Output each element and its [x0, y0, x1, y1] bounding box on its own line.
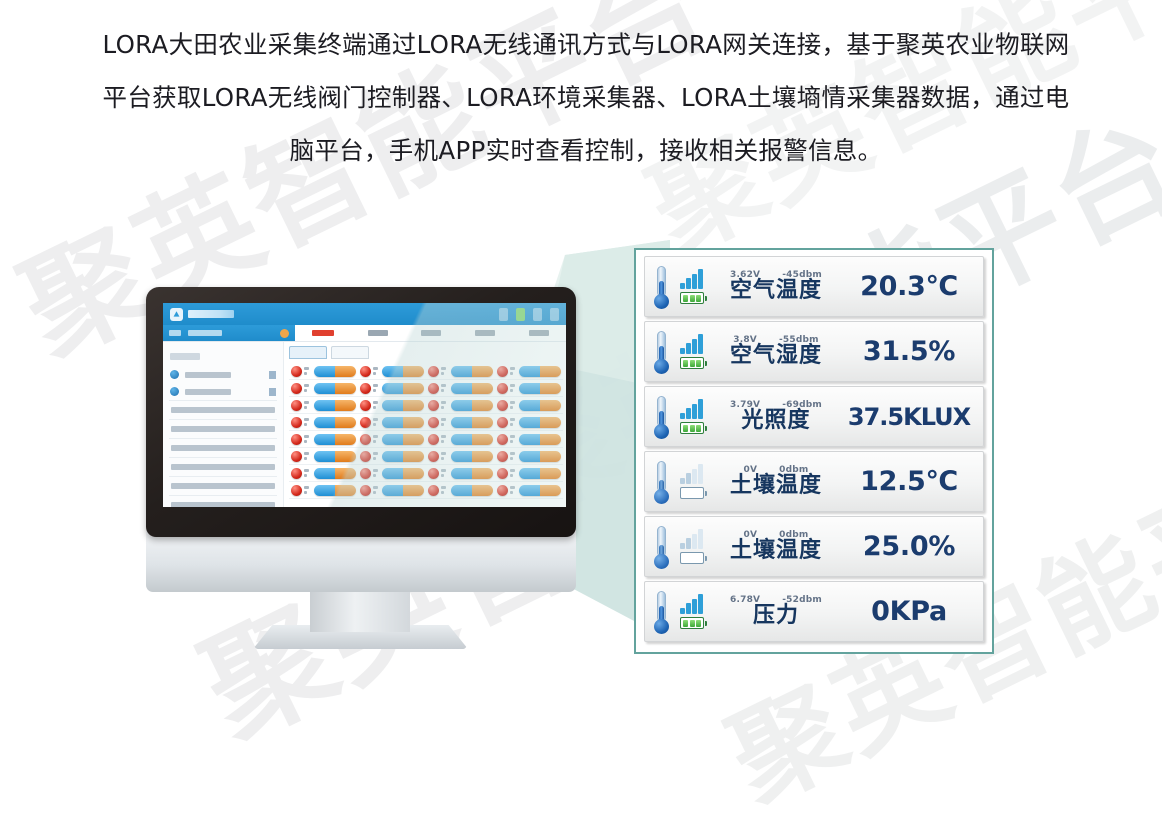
valve-toggle-button[interactable] [519, 366, 561, 377]
valve-open-half [451, 468, 472, 479]
valve-label [441, 433, 449, 445]
valve-open-half [451, 366, 472, 377]
sensor-signal-dbm: 0dbm [779, 465, 808, 475]
sensor-telemetry: 0V0dbm [744, 530, 809, 540]
battery-icon [680, 552, 704, 564]
user-avatar[interactable] [280, 329, 289, 338]
valve-close-half [403, 434, 424, 445]
thermometer-icon [653, 590, 670, 634]
valve-label [373, 382, 381, 394]
sensor-status-icons [677, 334, 707, 369]
valve-control-item[interactable] [289, 414, 358, 431]
valve-toggle-button[interactable] [314, 434, 356, 445]
header-icon-4[interactable] [550, 308, 559, 321]
valve-toggle-button[interactable] [382, 400, 424, 411]
status-indicator-icon [360, 434, 371, 445]
sensor-status-icons [677, 594, 707, 629]
valve-label [304, 399, 312, 411]
valve-control-item[interactable] [358, 431, 427, 448]
valve-open-half [314, 434, 335, 445]
valve-open-half [519, 451, 540, 462]
valve-close-half [335, 400, 356, 411]
sensor-voltage: 0V [744, 465, 758, 475]
valve-open-half [451, 400, 472, 411]
app-header [163, 303, 566, 325]
app-subnav [163, 325, 566, 342]
monitor-stand-neck [310, 587, 410, 632]
sensor-status-icons [677, 529, 707, 564]
valve-toggle-button[interactable] [519, 434, 561, 445]
valve-close-half [472, 485, 493, 496]
valve-control-item[interactable] [358, 465, 427, 482]
valve-label [510, 365, 518, 377]
valve-toggle-button[interactable] [519, 451, 561, 462]
battery-icon [680, 487, 704, 499]
status-indicator-icon [428, 451, 439, 462]
valve-toggle-button[interactable] [519, 417, 561, 428]
valve-label [373, 484, 381, 496]
valve-label [304, 484, 312, 496]
valve-label [373, 433, 381, 445]
valve-open-half [382, 383, 403, 394]
status-indicator-icon [291, 383, 302, 394]
valve-toggle-button[interactable] [314, 451, 356, 462]
valve-open-half [519, 417, 540, 428]
valve-control-item[interactable] [358, 380, 427, 397]
valve-close-half [403, 468, 424, 479]
valve-toggle-button[interactable] [519, 400, 561, 411]
valve-control-item[interactable] [426, 482, 495, 499]
sensor-voltage: 3.8V [733, 335, 757, 345]
sensor-value: 12.5℃ [845, 466, 973, 497]
sidebar-item-6[interactable] [169, 457, 277, 476]
valve-control-item[interactable] [289, 380, 358, 397]
tab-3[interactable] [421, 330, 441, 336]
valve-open-half [519, 366, 540, 377]
valve-label [304, 433, 312, 445]
valve-close-half [540, 468, 561, 479]
device-icon [170, 387, 179, 396]
signal-strength-icon [680, 399, 704, 419]
status-indicator-icon [428, 434, 439, 445]
valve-toggle-button[interactable] [382, 366, 424, 377]
valve-open-half [314, 366, 335, 377]
valve-close-half [335, 383, 356, 394]
valve-open-half [382, 366, 403, 377]
status-indicator-icon [497, 468, 508, 479]
sensor-row[interactable]: 0V0dbm土壤温度12.5℃ [644, 451, 984, 512]
valve-label [510, 382, 518, 394]
valve-toggle-button[interactable] [314, 485, 356, 496]
valve-label [304, 365, 312, 377]
valve-label [441, 365, 449, 377]
sensor-info: 3.79V-69dbm光照度 [714, 400, 838, 432]
valve-close-half [403, 366, 424, 377]
valve-close-half [540, 434, 561, 445]
valve-toggle-button[interactable] [314, 400, 356, 411]
sidebar-item-3[interactable] [169, 400, 277, 419]
sidebar-item-device-1[interactable] [163, 366, 283, 383]
sensor-name: 光照度 [741, 409, 810, 432]
valve-label [441, 484, 449, 496]
valve-close-half [403, 400, 424, 411]
valve-control-item[interactable] [289, 363, 358, 380]
valve-open-half [314, 485, 335, 496]
sidebar-item-7[interactable] [169, 476, 277, 495]
valve-control-item[interactable] [495, 397, 564, 414]
sensor-telemetry: 0V0dbm [744, 465, 809, 475]
sensor-info: 3.62V-45dbm空气温度 [714, 270, 838, 302]
valve-open-half [519, 468, 540, 479]
sensor-voltage: 3.79V [730, 400, 760, 410]
status-indicator-icon [360, 485, 371, 496]
valve-toggle-button[interactable] [314, 417, 356, 428]
signal-icon [269, 371, 276, 379]
sidebar-item-5[interactable] [169, 438, 277, 457]
valve-label [304, 416, 312, 428]
tab-2[interactable] [368, 330, 388, 336]
valve-close-half [335, 366, 356, 377]
sensor-name: 压力 [753, 604, 799, 627]
valve-close-half [540, 383, 561, 394]
valve-label [510, 484, 518, 496]
sensor-telemetry: 3.62V-45dbm [730, 270, 822, 280]
battery-icon [680, 617, 704, 629]
valve-toggle-button[interactable] [451, 366, 493, 377]
valve-label [373, 399, 381, 411]
valve-open-half [382, 417, 403, 428]
sensor-info: 0V0dbm土壤温度 [714, 465, 838, 497]
sensor-telemetry: 3.8V-55dbm [733, 335, 818, 345]
sensor-status-icons [677, 269, 707, 304]
thermometer-icon [653, 460, 670, 504]
valve-label [510, 450, 518, 462]
status-indicator-icon [360, 417, 371, 428]
valve-open-half [451, 485, 472, 496]
sensor-row[interactable]: 3.62V-45dbm空气温度20.3℃ [644, 256, 984, 317]
valve-toggle-button[interactable] [451, 468, 493, 479]
app-tabs [295, 325, 566, 341]
status-indicator-icon [291, 417, 302, 428]
sensor-signal-dbm: -52dbm [782, 595, 822, 605]
status-indicator-icon [497, 366, 508, 377]
desktop-monitor [120, 270, 600, 650]
valve-control-item[interactable] [289, 482, 358, 499]
valve-close-half [335, 468, 356, 479]
battery-icon [680, 422, 704, 434]
sensor-status-icons [677, 399, 707, 434]
valve-label [441, 382, 449, 394]
valve-open-half [451, 383, 472, 394]
sensor-name: 空气湿度 [730, 344, 822, 367]
tab-1[interactable] [312, 330, 334, 336]
sensor-row[interactable]: 3.79V-69dbm光照度37.5KLUX [644, 386, 984, 447]
valve-control-item[interactable] [358, 363, 427, 380]
content-tab-1[interactable] [289, 346, 327, 359]
valve-open-half [451, 417, 472, 428]
thermometer-icon [653, 265, 670, 309]
valve-control-item[interactable] [426, 431, 495, 448]
tab-5[interactable] [529, 330, 549, 336]
valve-toggle-button[interactable] [451, 485, 493, 496]
status-indicator-icon [291, 485, 302, 496]
valve-label [510, 399, 518, 411]
subnav-back-label[interactable] [169, 330, 181, 336]
status-indicator-icon [497, 383, 508, 394]
valve-close-half [540, 400, 561, 411]
valve-control-item[interactable] [289, 448, 358, 465]
valve-open-half [314, 417, 335, 428]
valve-control-item[interactable] [426, 414, 495, 431]
status-indicator-icon [360, 400, 371, 411]
sensor-name: 土壤温度 [730, 539, 822, 562]
valve-control-item[interactable] [289, 465, 358, 482]
valve-close-half [472, 451, 493, 462]
sensor-voltage: 0V [744, 530, 758, 540]
thermometer-icon [653, 525, 670, 569]
status-indicator-icon [291, 400, 302, 411]
status-indicator-icon [291, 451, 302, 462]
valve-toggle-button[interactable] [451, 434, 493, 445]
sensor-telemetry: 6.78V-52dbm [730, 595, 822, 605]
status-indicator-icon [360, 366, 371, 377]
valve-close-half [335, 417, 356, 428]
valve-open-half [382, 434, 403, 445]
header-icon-2[interactable] [516, 308, 525, 321]
valve-close-half [472, 434, 493, 445]
valve-control-item[interactable] [495, 380, 564, 397]
description-paragraph: LORA大田农业采集终端通过LORA无线通讯方式与LORA网关连接，基于聚英农业… [96, 18, 1076, 177]
content-tabs [289, 346, 563, 359]
sensor-signal-dbm: -45dbm [782, 270, 822, 280]
sensor-row[interactable]: 6.78V-52dbm压力0KPa [644, 581, 984, 642]
sensor-status-icons [677, 464, 707, 499]
valve-label [510, 467, 518, 479]
valve-toggle-button[interactable] [451, 400, 493, 411]
subnav-left [163, 325, 295, 341]
valve-open-half [451, 451, 472, 462]
status-indicator-icon [497, 485, 508, 496]
sidebar-item-8[interactable] [169, 495, 277, 507]
signal-strength-icon [680, 334, 704, 354]
status-indicator-icon [291, 366, 302, 377]
valve-control-item[interactable] [495, 482, 564, 499]
valve-close-half [403, 485, 424, 496]
content-tab-2[interactable] [331, 346, 369, 359]
valve-open-half [382, 485, 403, 496]
valve-close-half [472, 417, 493, 428]
valve-label [441, 467, 449, 479]
monitor-screen [163, 303, 566, 507]
thermometer-icon [653, 395, 670, 439]
valve-control-item[interactable] [358, 397, 427, 414]
signal-icon [269, 388, 276, 396]
sensor-voltage: 6.78V [730, 595, 760, 605]
app-body [163, 342, 566, 507]
valve-toggle-button[interactable] [519, 468, 561, 479]
sensor-name: 土壤温度 [730, 474, 822, 497]
valve-toggle-button[interactable] [451, 417, 493, 428]
tab-4[interactable] [475, 330, 495, 336]
valve-control-item[interactable] [289, 431, 358, 448]
valve-toggle-button[interactable] [382, 417, 424, 428]
valve-open-half [451, 434, 472, 445]
status-indicator-icon [428, 383, 439, 394]
monitor-bezel [146, 287, 576, 537]
valve-control-item[interactable] [358, 448, 427, 465]
valve-toggle-button[interactable] [451, 383, 493, 394]
valve-label [373, 365, 381, 377]
battery-icon [680, 357, 704, 369]
valve-toggle-button[interactable] [519, 383, 561, 394]
signal-strength-icon [680, 529, 704, 549]
status-indicator-icon [360, 468, 371, 479]
valve-close-half [335, 485, 356, 496]
valve-label [510, 433, 518, 445]
sidebar-item-device-2[interactable] [163, 383, 283, 400]
sidebar-group-label [170, 353, 200, 360]
valve-control-item[interactable] [495, 448, 564, 465]
status-indicator-icon [497, 451, 508, 462]
status-indicator-icon [497, 400, 508, 411]
poster-canvas: 聚英智能平台 聚英智能平台 聚英智能平台 聚英智能平台 聚英智能平台 LORA大… [0, 0, 1162, 726]
sensor-signal-dbm: -55dbm [779, 335, 819, 345]
valve-label [510, 416, 518, 428]
valve-close-half [540, 485, 561, 496]
status-indicator-icon [428, 400, 439, 411]
status-indicator-icon [360, 383, 371, 394]
valve-open-half [382, 400, 403, 411]
valve-control-item[interactable] [495, 414, 564, 431]
valve-toggle-button[interactable] [382, 434, 424, 445]
status-indicator-icon [360, 451, 371, 462]
valve-control-grid [289, 363, 563, 499]
valve-toggle-button[interactable] [382, 485, 424, 496]
header-icon-3[interactable] [533, 308, 542, 321]
valve-close-half [335, 451, 356, 462]
valve-close-half [403, 451, 424, 462]
valve-toggle-button[interactable] [314, 383, 356, 394]
valve-control-item[interactable] [358, 482, 427, 499]
status-indicator-icon [291, 434, 302, 445]
valve-close-half [335, 434, 356, 445]
app-brand-title [188, 310, 234, 318]
valve-control-item[interactable] [426, 465, 495, 482]
valve-label [441, 399, 449, 411]
sensor-value: 0KPa [845, 596, 973, 627]
sensor-info: 6.78V-52dbm压力 [714, 595, 838, 627]
sensor-info: 3.8V-55dbm空气湿度 [714, 335, 838, 367]
valve-close-half [540, 451, 561, 462]
sensor-name: 空气温度 [730, 279, 822, 302]
valve-toggle-button[interactable] [382, 468, 424, 479]
platform-app [163, 303, 566, 507]
sensor-row[interactable]: 3.8V-55dbm空气湿度31.5% [644, 321, 984, 382]
valve-label [373, 467, 381, 479]
monitor-chin [146, 530, 576, 592]
status-indicator-icon [291, 468, 302, 479]
sensor-voltage: 3.62V [730, 270, 760, 280]
valve-control-item[interactable] [426, 397, 495, 414]
valve-close-half [540, 366, 561, 377]
valve-close-half [403, 417, 424, 428]
valve-control-item[interactable] [358, 414, 427, 431]
valve-open-half [314, 400, 335, 411]
valve-label [304, 450, 312, 462]
valve-control-item[interactable] [495, 465, 564, 482]
valve-control-item[interactable] [495, 431, 564, 448]
header-icon-1[interactable] [499, 308, 508, 321]
valve-control-item[interactable] [495, 363, 564, 380]
sidebar-item-4[interactable] [169, 419, 277, 438]
sensor-row[interactable]: 0V0dbm土壤温度25.0% [644, 516, 984, 577]
valve-toggle-button[interactable] [519, 485, 561, 496]
valve-toggle-button[interactable] [314, 468, 356, 479]
valve-toggle-button[interactable] [451, 451, 493, 462]
valve-control-item[interactable] [426, 448, 495, 465]
valve-toggle-button[interactable] [382, 451, 424, 462]
valve-toggle-button[interactable] [382, 383, 424, 394]
valve-open-half [519, 383, 540, 394]
valve-control-item[interactable] [426, 380, 495, 397]
valve-label [441, 416, 449, 428]
valve-close-half [403, 383, 424, 394]
valve-open-half [519, 434, 540, 445]
valve-close-half [472, 400, 493, 411]
sensor-signal-dbm: 0dbm [779, 530, 808, 540]
valve-open-half [314, 383, 335, 394]
valve-open-half [519, 485, 540, 496]
status-indicator-icon [497, 434, 508, 445]
valve-close-half [540, 417, 561, 428]
signal-strength-icon [680, 269, 704, 289]
app-header-icons [499, 308, 559, 321]
thermometer-icon [653, 330, 670, 374]
sensor-telemetry: 3.79V-69dbm [730, 400, 822, 410]
status-indicator-icon [428, 366, 439, 377]
valve-label [441, 450, 449, 462]
battery-icon [680, 292, 704, 304]
sensor-value: 20.3℃ [845, 271, 973, 302]
valve-open-half [314, 451, 335, 462]
status-indicator-icon [497, 417, 508, 428]
app-logo-icon [170, 308, 183, 321]
valve-close-half [472, 383, 493, 394]
valve-open-half [382, 468, 403, 479]
status-indicator-icon [428, 468, 439, 479]
status-indicator-icon [428, 485, 439, 496]
signal-strength-icon [680, 594, 704, 614]
valve-label [304, 467, 312, 479]
valve-close-half [472, 366, 493, 377]
sensor-value: 31.5% [845, 336, 973, 367]
valve-toggle-button[interactable] [314, 366, 356, 377]
sensor-value: 37.5KLUX [845, 403, 973, 431]
valve-open-half [314, 468, 335, 479]
valve-label [304, 382, 312, 394]
device-icon [170, 370, 179, 379]
app-sidebar [163, 342, 284, 507]
signal-strength-icon [680, 464, 704, 484]
valve-control-item[interactable] [289, 397, 358, 414]
valve-control-item[interactable] [426, 363, 495, 380]
sensor-signal-dbm: -69dbm [782, 400, 822, 410]
sensor-readout-panel: 3.62V-45dbm空气温度20.3℃3.8V-55dbm空气湿度31.5%3… [634, 248, 994, 654]
valve-open-half [519, 400, 540, 411]
valve-label [373, 416, 381, 428]
app-main-content [284, 342, 566, 507]
valve-open-half [382, 451, 403, 462]
